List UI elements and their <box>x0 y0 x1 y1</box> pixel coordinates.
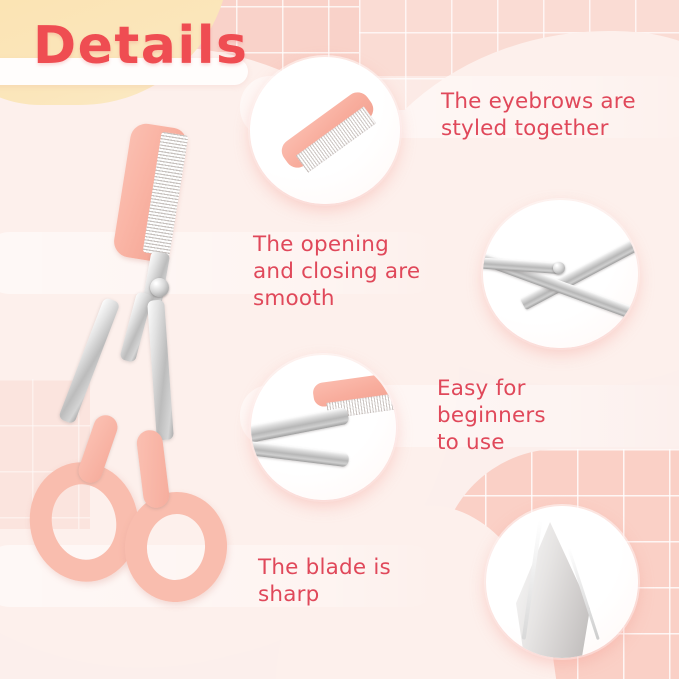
feature-circle-eyebrows-styled <box>250 57 400 204</box>
feature-circle-easy-beginners <box>251 355 396 500</box>
feature-circle-blade-sharp <box>486 506 638 658</box>
product-pivot-screw <box>150 278 169 297</box>
feature-circle-opening-closing <box>483 200 638 348</box>
blade-open-lower <box>251 441 349 468</box>
page-title: Details <box>33 16 248 76</box>
feature-text-easy-beginners: Easy for beginners to use <box>437 375 546 456</box>
blade-open-upper <box>251 407 350 444</box>
feature-text-opening-closing: The opening and closing are smooth <box>253 231 420 312</box>
product-detail-image: Details The eyebrows are styled together <box>0 0 679 679</box>
pivot-screw-closeup <box>553 262 565 274</box>
feature-text-eyebrows-styled: The eyebrows are styled together <box>441 88 636 142</box>
blade-tip-body <box>516 522 590 658</box>
feature-text-blade-sharp: The blade is sharp <box>258 554 391 608</box>
